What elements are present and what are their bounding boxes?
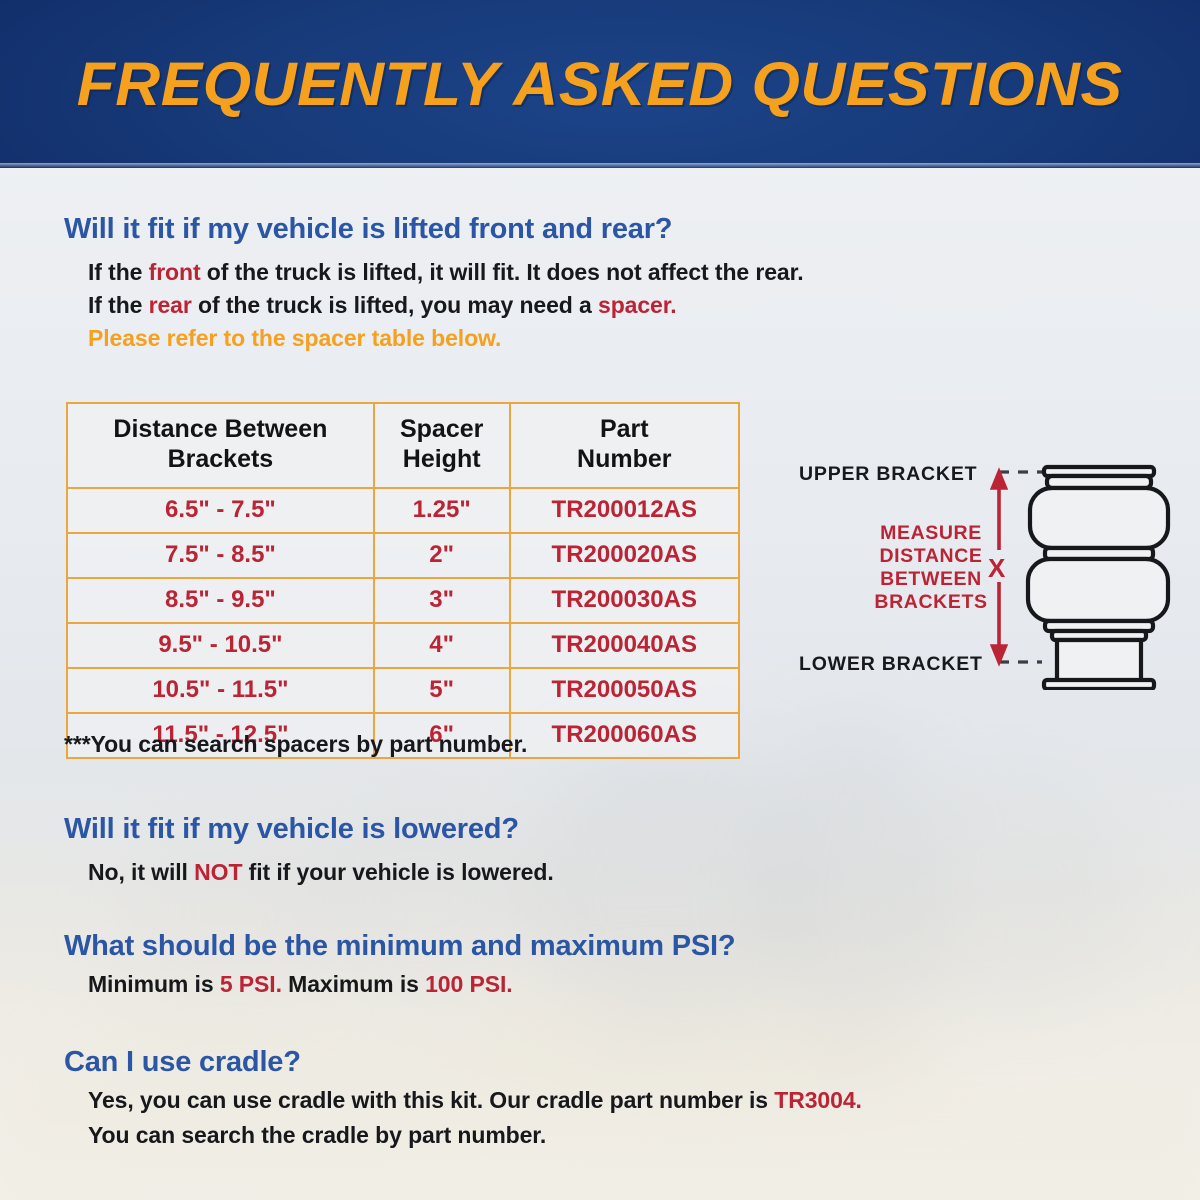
header-line: Spacer <box>381 415 503 445</box>
cell-spacer-height: 4" <box>374 623 510 668</box>
cell-part-number: TR200020AS <box>510 533 739 578</box>
text-fragment: If the <box>88 292 149 318</box>
table-row: 9.5" - 10.5" 4" TR200040AS <box>67 623 739 668</box>
answer-line-lifted-rear: If the rear of the truck is lifted, you … <box>88 292 677 319</box>
answer-line-cradle-search: You can search the cradle by part number… <box>88 1122 546 1149</box>
cell-spacer-height: 5" <box>374 668 510 713</box>
emphasis-cradle-part-number: TR3004. <box>774 1087 862 1113</box>
cell-distance: 9.5" - 10.5" <box>67 623 374 668</box>
table-header-part-number: Part Number <box>510 403 739 488</box>
cell-spacer-height: 2" <box>374 533 510 578</box>
header-line: Number <box>517 445 732 475</box>
air-spring-icon <box>1028 467 1168 689</box>
emphasis-min-psi: 5 PSI. <box>220 971 282 997</box>
header-line: Brackets <box>74 445 367 475</box>
answer-line-psi: Minimum is 5 PSI. Maximum is 100 PSI. <box>88 971 513 998</box>
page-title: FREQUENTLY ASKED QUESTIONS <box>77 49 1123 119</box>
cell-distance: 7.5" - 8.5" <box>67 533 374 578</box>
emphasis-spacer: spacer. <box>598 292 677 318</box>
table-row: 10.5" - 11.5" 5" TR200050AS <box>67 668 739 713</box>
table-header-distance: Distance Between Brackets <box>67 403 374 488</box>
question-heading-cradle: Can I use cradle? <box>64 1046 301 1079</box>
answer-line-refer-table: Please refer to the spacer table below. <box>88 325 501 352</box>
cell-part-number: TR200050AS <box>510 668 739 713</box>
text-fragment: Yes, you can use cradle with this kit. O… <box>88 1087 774 1113</box>
cell-spacer-height: 1.25" <box>374 488 510 533</box>
header-line: Part <box>517 415 732 445</box>
table-header-row: Distance Between Brackets Spacer Height … <box>67 403 739 488</box>
answer-line-lowered: No, it will NOT fit if your vehicle is l… <box>88 859 554 886</box>
text-fragment: No, it will <box>88 859 194 885</box>
text-fragment: fit if your vehicle is lowered. <box>242 859 553 885</box>
cell-spacer-height: 3" <box>374 578 510 623</box>
emphasis-max-psi: 100 PSI. <box>425 971 512 997</box>
table-row: 6.5" - 7.5" 1.25" TR200012AS <box>67 488 739 533</box>
question-heading-lowered: Will it fit if my vehicle is lowered? <box>64 813 519 846</box>
question-heading-lifted: Will it fit if my vehicle is lifted fron… <box>64 213 672 246</box>
emphasis-front: front <box>149 259 201 285</box>
cell-part-number: TR200040AS <box>510 623 739 668</box>
cell-part-number: TR200030AS <box>510 578 739 623</box>
spacer-table: Distance Between Brackets Spacer Height … <box>66 402 740 759</box>
text-fragment: Maximum is <box>282 971 425 997</box>
text-fragment: If the <box>88 259 149 285</box>
text-fragment: of the truck is lifted, it will fit. It … <box>201 259 804 285</box>
cell-part-number: TR200060AS <box>510 713 739 758</box>
emphasis-not: NOT <box>194 859 242 885</box>
text-fragment: Minimum is <box>88 971 220 997</box>
cell-part-number: TR200012AS <box>510 488 739 533</box>
cell-distance: 6.5" - 7.5" <box>67 488 374 533</box>
air-spring-measurement-diagram: UPPER BRACKET LOWER BRACKET MEASURE DIST… <box>780 440 1180 690</box>
answer-line-lifted-front: If the front of the truck is lifted, it … <box>88 259 804 286</box>
table-row: 8.5" - 9.5" 3" TR200030AS <box>67 578 739 623</box>
text-fragment: of the truck is lifted, you may need a <box>192 292 598 318</box>
header-line: Distance Between <box>74 415 367 445</box>
table-header-spacer-height: Spacer Height <box>374 403 510 488</box>
question-heading-psi: What should be the minimum and maximum P… <box>64 930 735 963</box>
header-banner: FREQUENTLY ASKED QUESTIONS <box>0 0 1200 168</box>
air-spring-svg <box>780 440 1180 690</box>
table-row: 7.5" - 8.5" 2" TR200020AS <box>67 533 739 578</box>
dimension-arrow-icon <box>993 472 1006 662</box>
cell-distance: 10.5" - 11.5" <box>67 668 374 713</box>
search-spacers-note: ***You can search spacers by part number… <box>64 731 527 758</box>
faq-page: FREQUENTLY ASKED QUESTIONS Will it fit i… <box>0 0 1200 1200</box>
emphasis-rear: rear <box>149 292 192 318</box>
header-line: Height <box>381 445 503 475</box>
page-content: FREQUENTLY ASKED QUESTIONS Will it fit i… <box>0 0 1200 168</box>
cell-distance: 8.5" - 9.5" <box>67 578 374 623</box>
answer-line-cradle-part: Yes, you can use cradle with this kit. O… <box>88 1087 862 1114</box>
